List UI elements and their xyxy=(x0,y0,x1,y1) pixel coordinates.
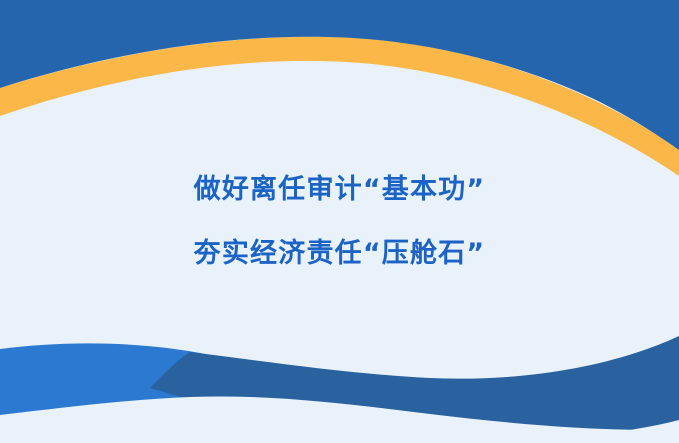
banner-graphic: 做好离任审计“基本功” 夯实经济责任“压舱石” xyxy=(0,0,679,443)
decorative-curves xyxy=(0,0,679,443)
